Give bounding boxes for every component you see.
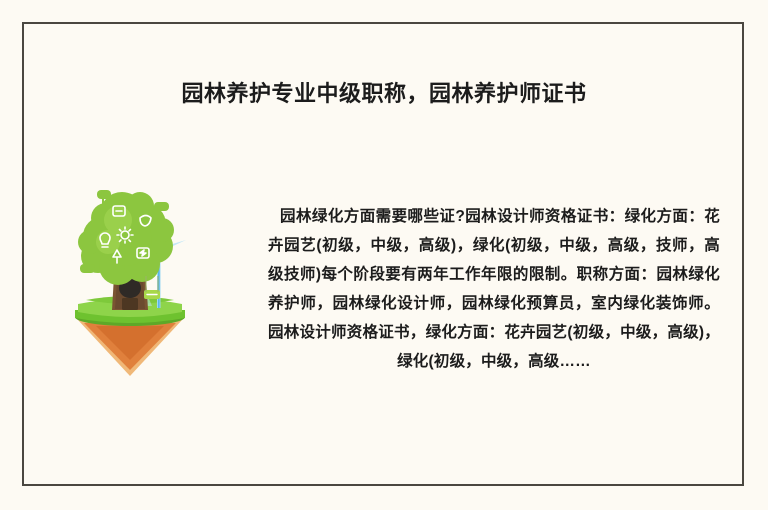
eco-floating-island-tree-illustration <box>62 180 198 380</box>
article-body: 园林绿化方面需要哪些证?园林设计师资格证书：绿化方面：花卉园艺(初级，中级，高级… <box>268 202 720 376</box>
page-title: 园林养护专业中级职称，园林养护师证书 <box>0 76 768 108</box>
page-root: 园林养护专业中级职称，园林养护师证书 <box>0 0 768 510</box>
island-soil-icon <box>78 320 182 376</box>
